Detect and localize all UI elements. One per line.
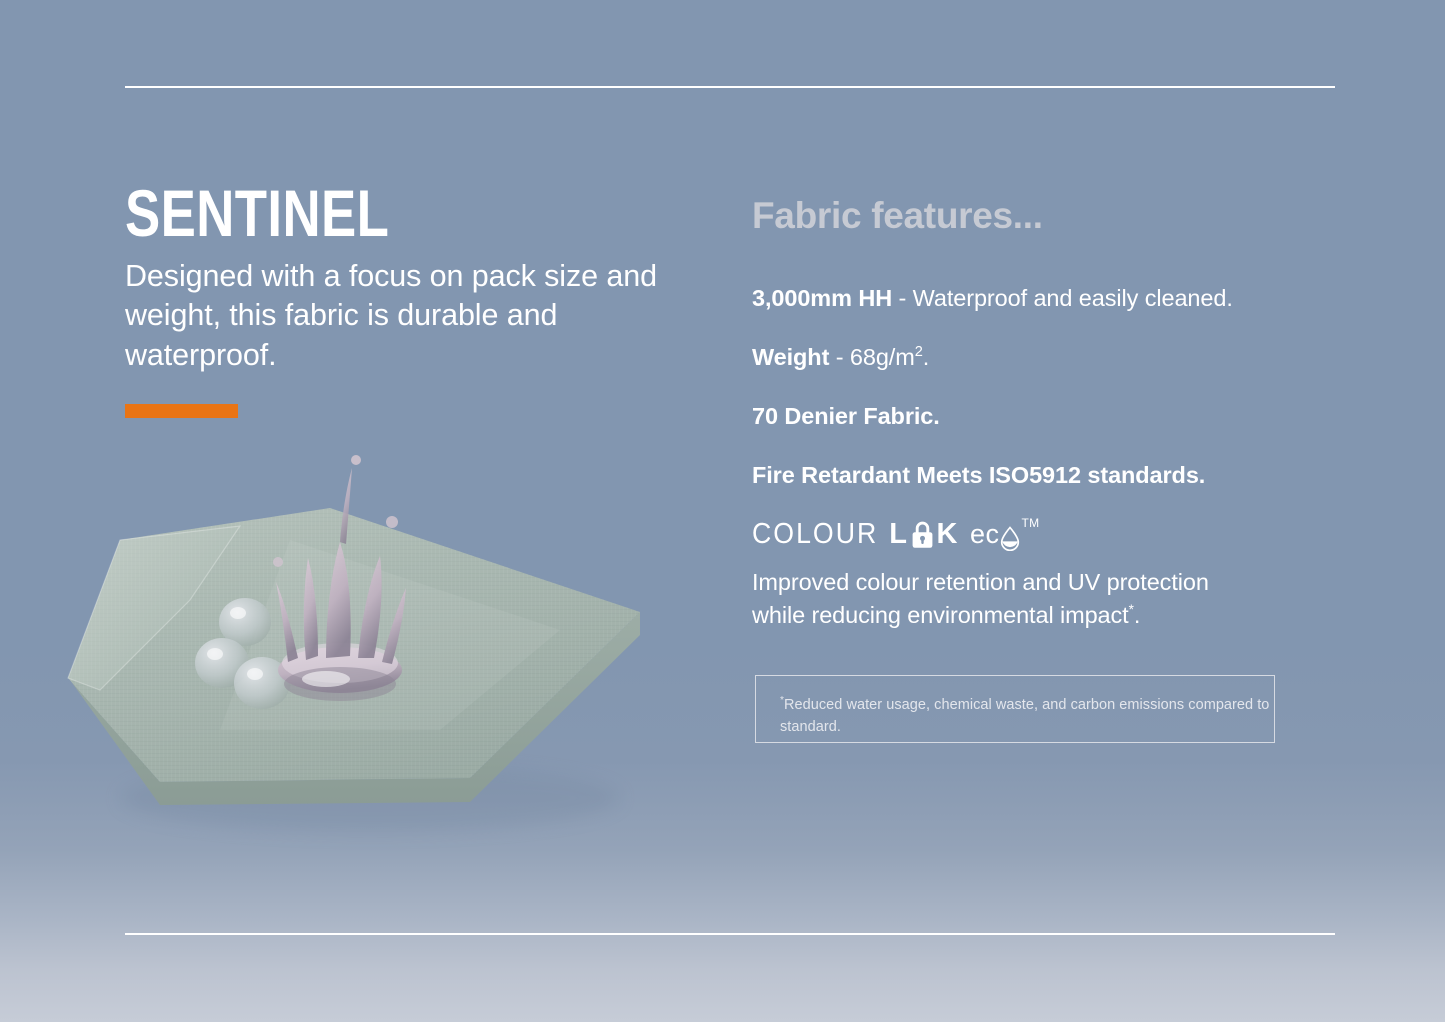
feature-label: Weight — [752, 344, 829, 370]
feature-label: Fire Retardant Meets ISO5912 standards. — [752, 462, 1205, 488]
footnote-text: Reduced water usage, chemical waste, and… — [780, 697, 1269, 735]
footnote-box: *Reduced water usage, chemical waste, an… — [755, 675, 1275, 743]
feature-item-hydrostatic-head: 3,000mm HH - Waterproof and easily clean… — [752, 284, 1233, 313]
feature-value: - Waterproof and easily cleaned. — [892, 285, 1233, 311]
padlock-icon — [911, 521, 934, 549]
features-heading: Fabric features... — [752, 196, 1352, 237]
feature-value: - 68g/m — [829, 344, 914, 370]
feature-item-weight: Weight - 68g/m2. — [752, 343, 929, 372]
logo-letter-k: K — [937, 518, 959, 551]
footnote-text-container: *Reduced water usage, chemical waste, an… — [756, 676, 1274, 739]
feature-value-end: . — [923, 344, 929, 370]
logo-letter-l: L — [889, 518, 908, 551]
colourlok-eco-logo: COLOUR L K ec TM — [752, 514, 1038, 554]
logo-word-eco: ec — [970, 519, 1000, 550]
colourlok-description-line2: while reducing environmental impact — [752, 602, 1129, 628]
product-image — [40, 430, 700, 850]
feature-superscript: 2 — [915, 344, 923, 360]
water-droplet-icon — [1000, 526, 1020, 551]
feature-label: 3,000mm HH — [752, 285, 892, 311]
feature-item-fire-retardant: Fire Retardant Meets ISO5912 standards. — [752, 461, 1205, 490]
page-title: SENTINEL — [125, 182, 589, 245]
trademark-icon: TM — [1021, 516, 1039, 530]
product-info-column: SENTINEL Designed with a focus on pack s… — [125, 182, 705, 376]
product-description: Designed with a focus on pack size and w… — [125, 257, 705, 376]
divider-bottom — [125, 933, 1335, 935]
colourlok-description: Improved colour retention and UV protect… — [752, 566, 1352, 633]
accent-bar — [125, 404, 238, 418]
colourlok-description-line1: Improved colour retention and UV protect… — [752, 569, 1209, 595]
feature-label: 70 Denier Fabric. — [752, 403, 940, 429]
logo-word-colour: COLOUR — [752, 518, 878, 551]
feature-item-denier: 70 Denier Fabric. — [752, 402, 940, 431]
colourlok-description-end: . — [1134, 602, 1140, 628]
fabric-features-column: Fabric features... 3,000mm HH - Waterpro… — [752, 196, 1352, 237]
divider-top — [125, 86, 1335, 88]
fabric-spec-page: SENTINEL Designed with a focus on pack s… — [0, 0, 1445, 1022]
